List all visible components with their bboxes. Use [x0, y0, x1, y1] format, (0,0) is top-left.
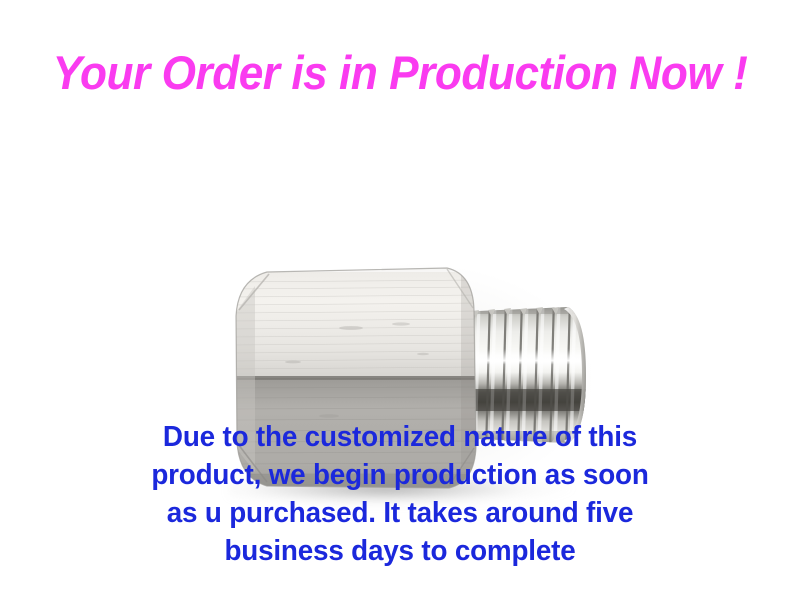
notice-line-1: Due to the customized nature of this	[16, 418, 784, 456]
promo-banner: Your Order is in Production Now !	[0, 0, 800, 600]
product-photo	[0, 120, 800, 410]
notice-line-2: product, we begin production as soon	[16, 456, 784, 494]
production-notice: Due to the customized nature of this pro…	[16, 418, 784, 570]
notice-line-4: business days to complete	[16, 532, 784, 570]
notice-line-3: as u purchased. It takes around five	[16, 494, 784, 532]
page-title: Your Order is in Production Now !	[24, 49, 776, 96]
